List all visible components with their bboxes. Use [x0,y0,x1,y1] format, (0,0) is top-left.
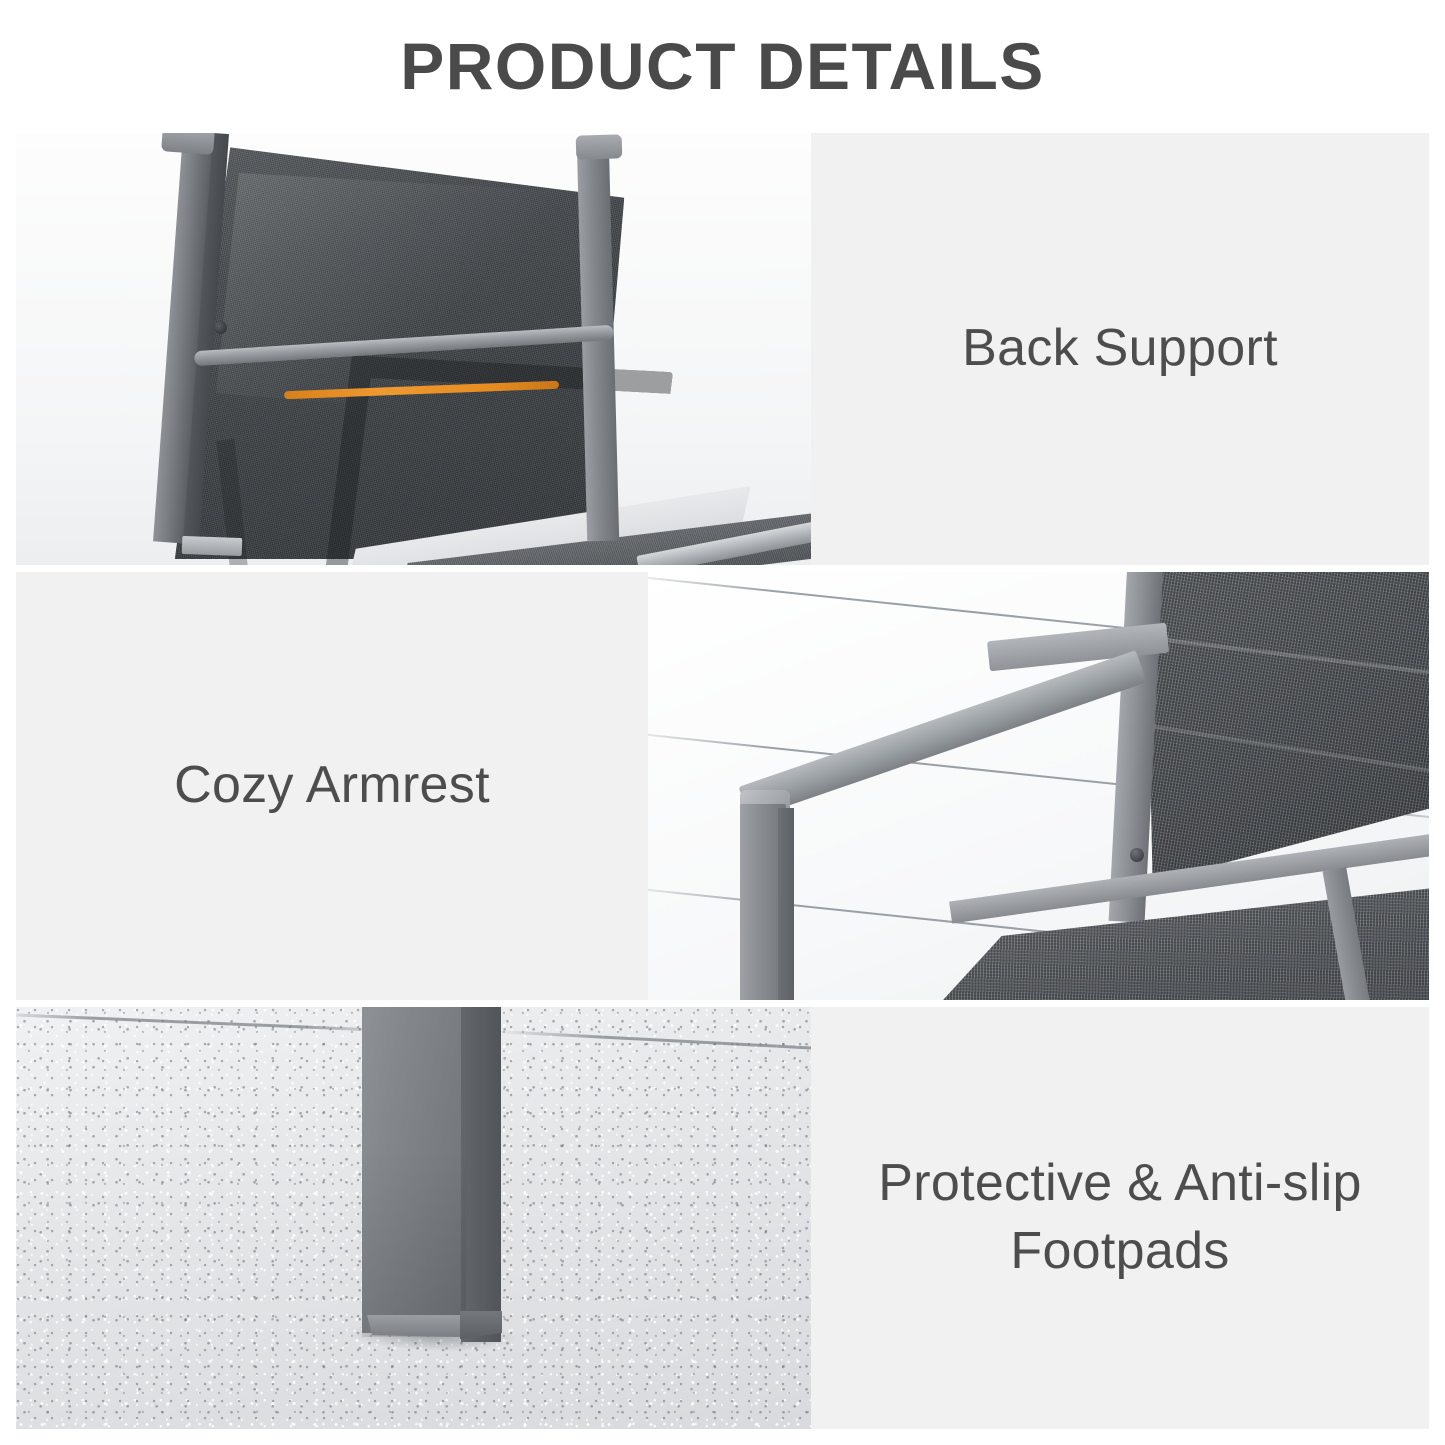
chair-armrest-photo [648,572,1429,1000]
armrest-screw [1130,848,1144,862]
frame-cap-left [161,133,215,155]
armrest-front-leg-side [778,808,794,1000]
frame-foot-left [182,536,243,556]
footpad-front [364,1315,464,1337]
label-panel-footpads: Protective & Anti-slip Footpads [811,1007,1429,1429]
product-details-infographic: PRODUCT DETAILS [0,0,1445,1445]
detail-row-footpads: Protective & Anti-slip Footpads [16,1007,1429,1429]
detail-row-cozy-armrest: Cozy Armrest [16,572,1429,1000]
label-panel-cozy-armrest: Cozy Armrest [16,572,648,1000]
chair-footpad-photo [16,1007,811,1429]
chair-leg-side-face [461,1007,501,1342]
chair-back-mesh-photo [16,133,811,565]
frame-cap-right [576,134,623,159]
label-cozy-armrest: Cozy Armrest [150,752,514,820]
label-panel-back-support: Back Support [811,133,1429,565]
frame-screw [214,321,227,334]
chair-leg-shading [362,1147,466,1337]
page-title: PRODUCT DETAILS [0,26,1445,106]
chair-back-illustration [16,133,811,565]
label-footpads: Protective & Anti-slip Footpads [811,1150,1429,1285]
detail-row-back-support: Back Support [16,133,1429,565]
label-back-support: Back Support [938,315,1302,383]
